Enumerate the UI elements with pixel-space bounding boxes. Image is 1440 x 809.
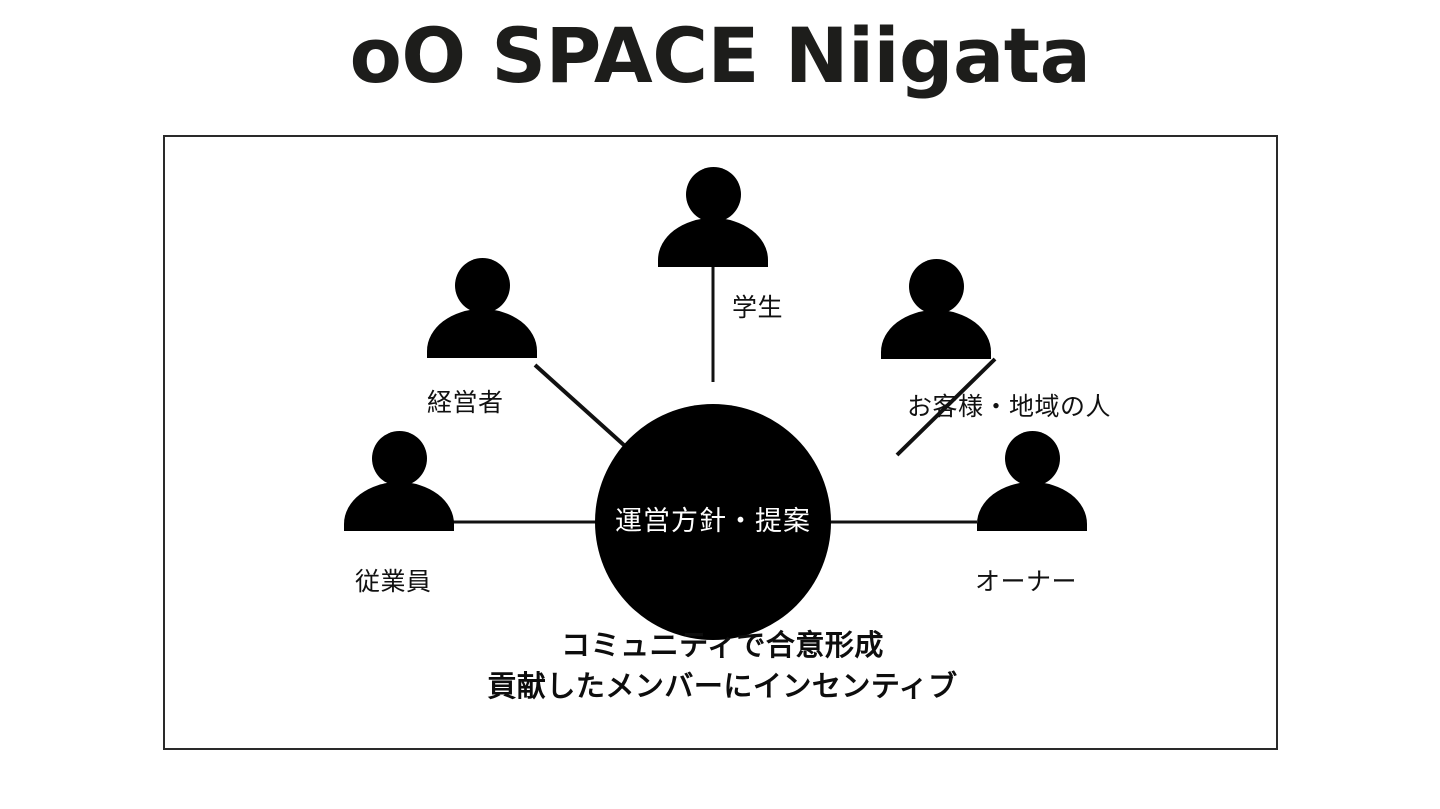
diagram-caption: コミュニティで合意形成 貢献したメンバーにインセンティブ [165, 625, 1280, 707]
person-body-icon [427, 309, 537, 358]
person-body-icon [658, 218, 768, 267]
center-node: 運営方針・提案 [595, 404, 831, 640]
person-icon-student [658, 167, 768, 267]
center-node-label: 運営方針・提案 [615, 499, 811, 538]
page-title: oO SPACE Niigata [0, 14, 1440, 98]
connector-manager [535, 365, 635, 455]
person-body-icon [344, 482, 454, 531]
node-label-employee: 従業員 [355, 562, 432, 598]
person-body-icon [977, 482, 1087, 531]
diagram-frame: 運営方針・提案 学生 経営者 お客様・地域の人 従業員 [163, 135, 1278, 750]
person-icon-owner [977, 431, 1087, 531]
node-label-manager: 経営者 [427, 383, 504, 419]
person-icon-employee [344, 431, 454, 531]
node-label-customer: お客様・地域の人 [907, 387, 1111, 423]
diagram-canvas: 運営方針・提案 学生 経営者 お客様・地域の人 従業員 [165, 137, 1280, 752]
node-label-student: 学生 [732, 288, 783, 324]
caption-line-1: コミュニティで合意形成 [165, 625, 1280, 666]
person-head-icon [686, 167, 741, 222]
person-head-icon [1005, 431, 1060, 486]
person-icon-manager [427, 258, 537, 358]
node-label-owner: オーナー [975, 562, 1077, 598]
caption-line-2: 貢献したメンバーにインセンティブ [165, 666, 1280, 707]
person-head-icon [372, 431, 427, 486]
person-body-icon [881, 310, 991, 359]
person-head-icon [909, 259, 964, 314]
person-icon-customer [881, 259, 991, 359]
person-head-icon [455, 258, 510, 313]
